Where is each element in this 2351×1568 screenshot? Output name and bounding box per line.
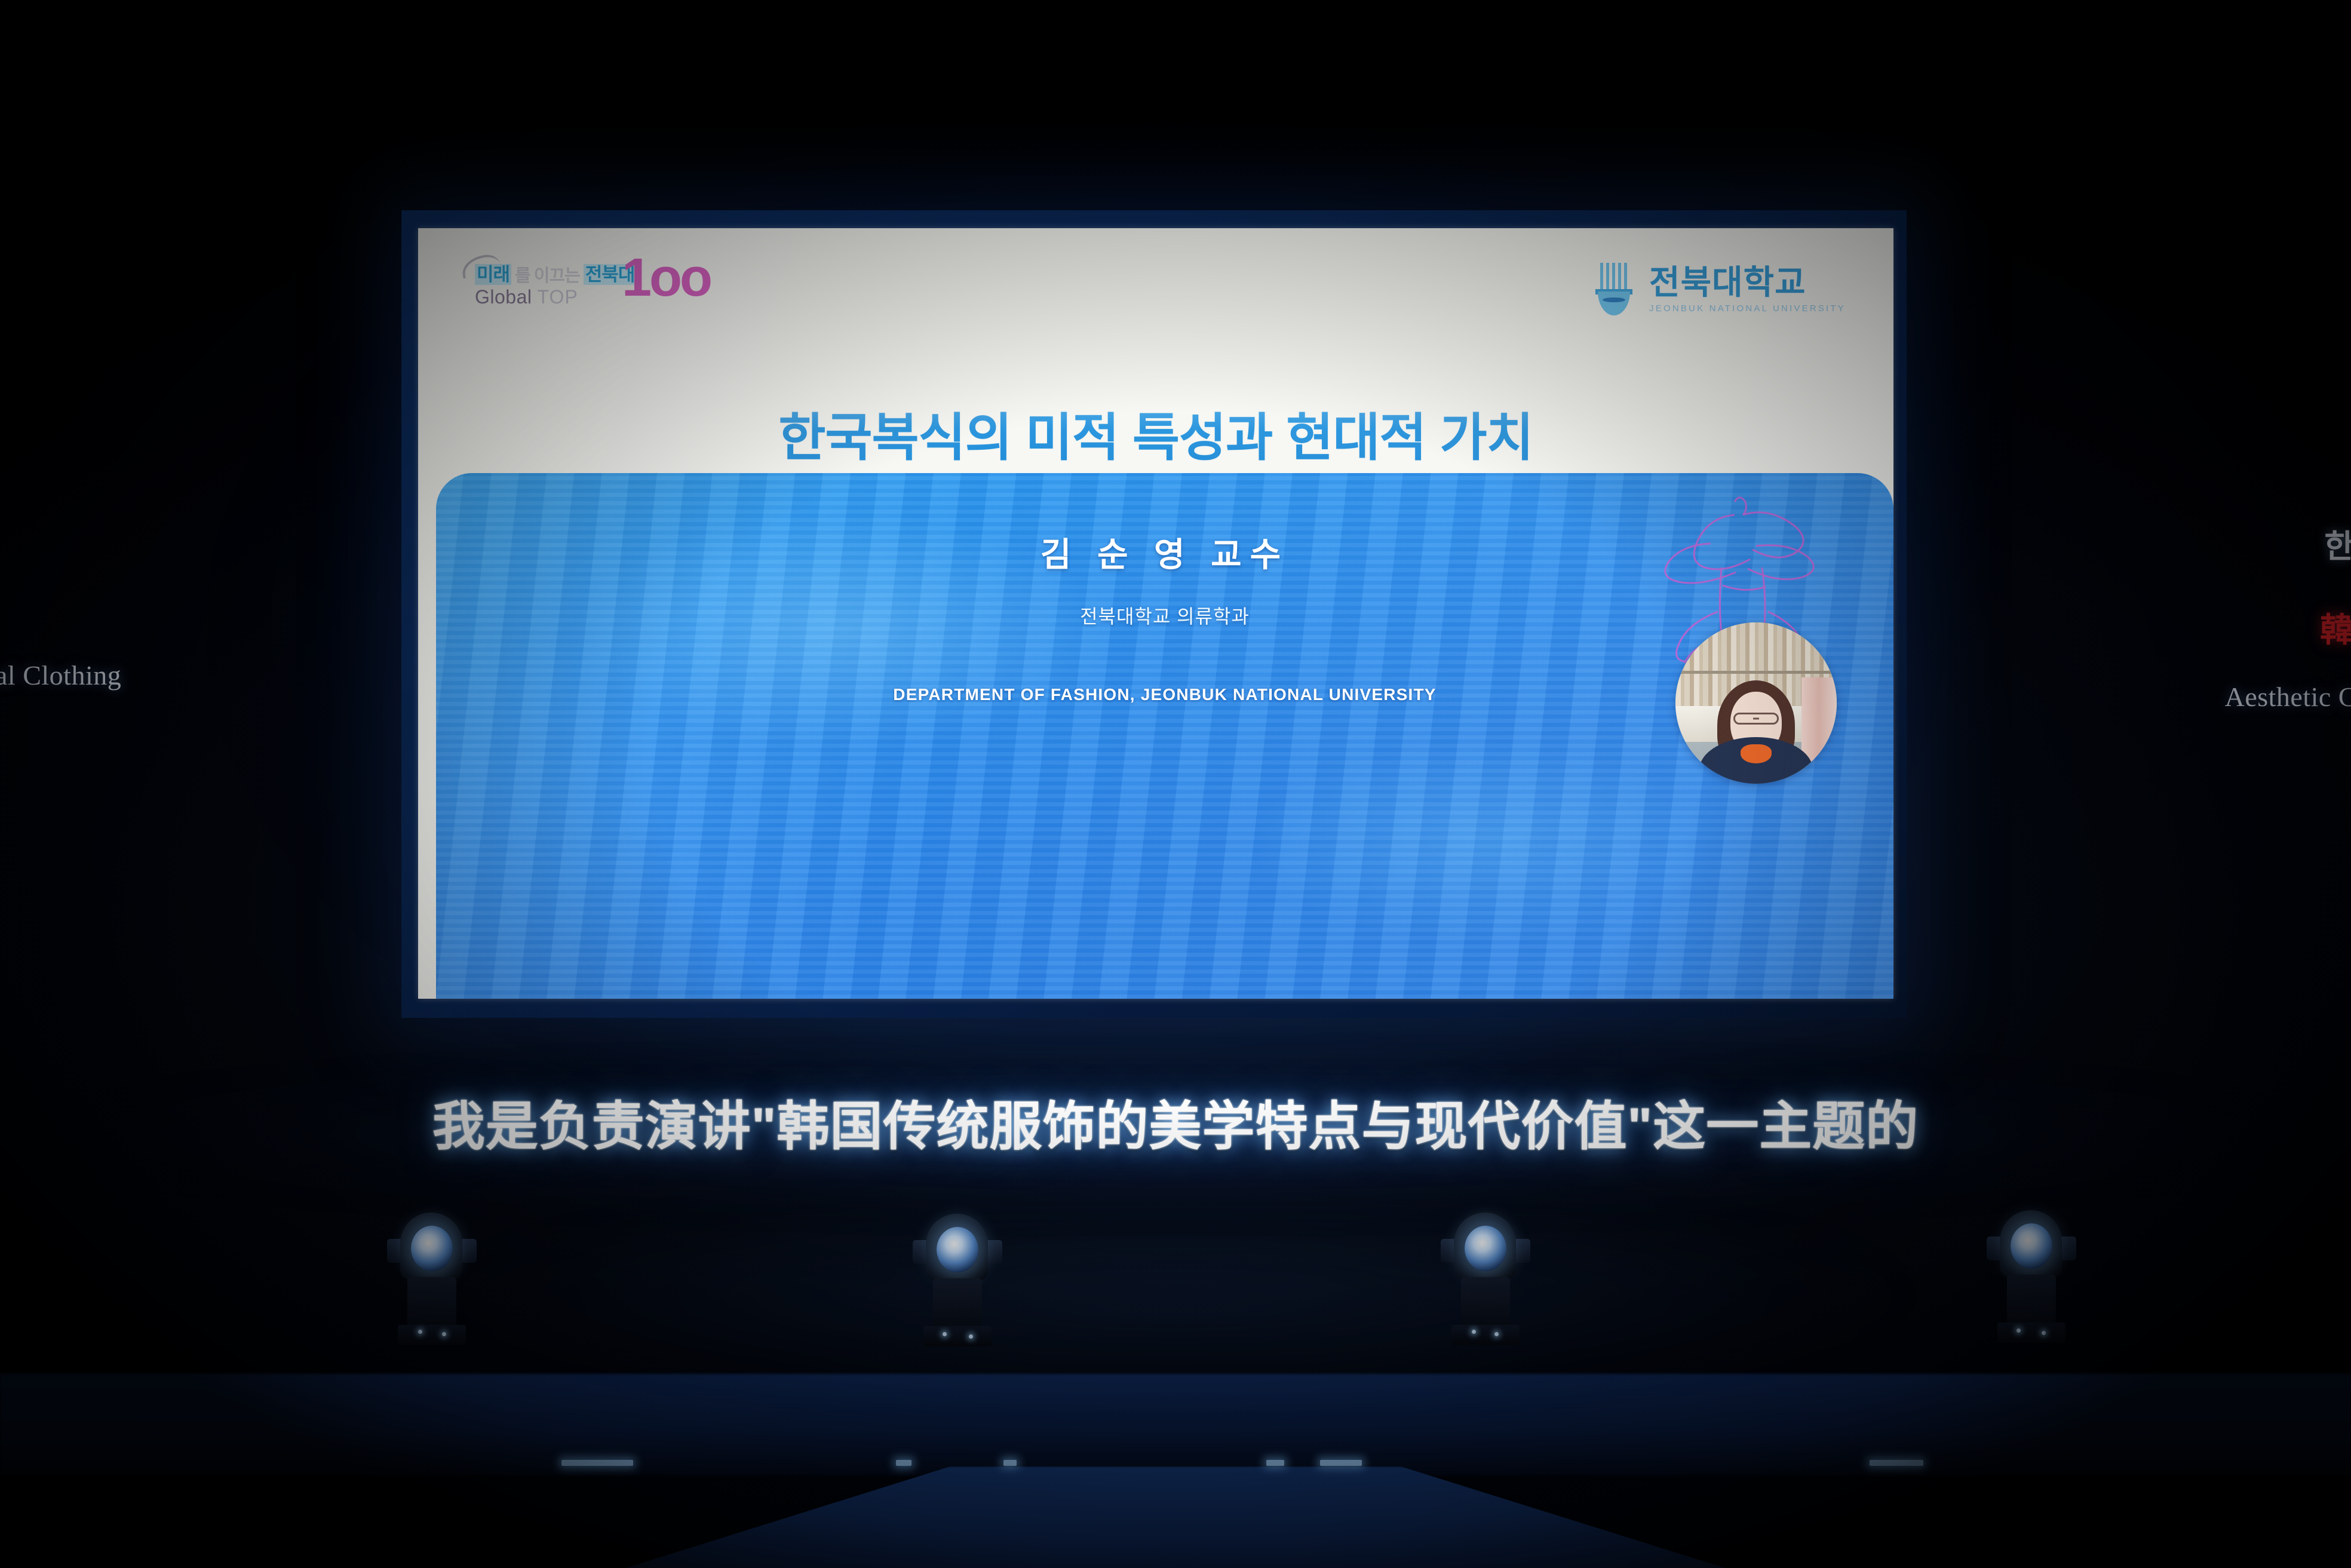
university-name-en: JEONBUK NATIONAL UNIVERSITY	[1649, 303, 1846, 314]
floor-led-strip	[0, 1460, 2351, 1467]
stage-scene: 미래 를 이끄는 전북대 Global TOP 1oo 전북대학교 JEONBU…	[0, 0, 2351, 1568]
stage-runway	[399, 1466, 1952, 1568]
hall-signage-left: al Clothing	[0, 659, 121, 691]
stage-light-3	[1441, 1213, 1530, 1350]
speaker-affiliation: 전북대학교 의류학과	[436, 602, 1893, 629]
logo-global-text: Global	[475, 286, 532, 308]
logo-kr-part3: 이끄는	[534, 268, 580, 285]
slide-title: 한국복식의 미적 특성과 현대적 가치	[418, 395, 1893, 470]
subtitle-caption: 我是负责演讲"韩国传统服饰的美学特点与现代价值"这一主题的	[0, 1084, 2351, 1160]
university-name-kr: 전북대학교	[1649, 266, 1846, 299]
speaker-name: 김 순 영 교수	[436, 528, 1893, 576]
department-english-line: DEPARTMENT OF FASHION, JEONBUK NATIONAL …	[436, 685, 1893, 704]
stage-light-2	[913, 1214, 1002, 1351]
jeonbuk-global-top100-logo: 미래 를 이끄는 전북대 Global TOP 1oo	[475, 264, 636, 308]
stage-light-1	[387, 1213, 477, 1350]
glasses-icon	[1733, 713, 1779, 725]
stage-light-4	[1987, 1210, 2076, 1348]
jeonbuk-national-university-logo: 전북대학교 JEONBUK NATIONAL UNIVERSITY	[1592, 263, 1846, 317]
logo-100-number: 1oo	[622, 251, 710, 305]
logo-kr-part2: 를	[515, 268, 530, 285]
speaker-photo-avatar	[1675, 622, 1837, 784]
slide-blue-panel: 김 순 영 교수 전북대학교 의류학과 DEPARTMENT OF FASHIO…	[436, 473, 1893, 999]
hall-signage-right-cn: 韓	[2320, 603, 2351, 652]
presentation-slide: 미래 를 이끄는 전북대 Global TOP 1oo 전북대학교 JEONBU…	[418, 228, 1893, 999]
university-crest-icon	[1592, 263, 1636, 317]
hall-signage-right-kr: 한	[2324, 520, 2351, 567]
logo-top-text: TOP	[538, 286, 578, 308]
hall-signage-right-en: Aesthetic C	[2225, 681, 2351, 713]
